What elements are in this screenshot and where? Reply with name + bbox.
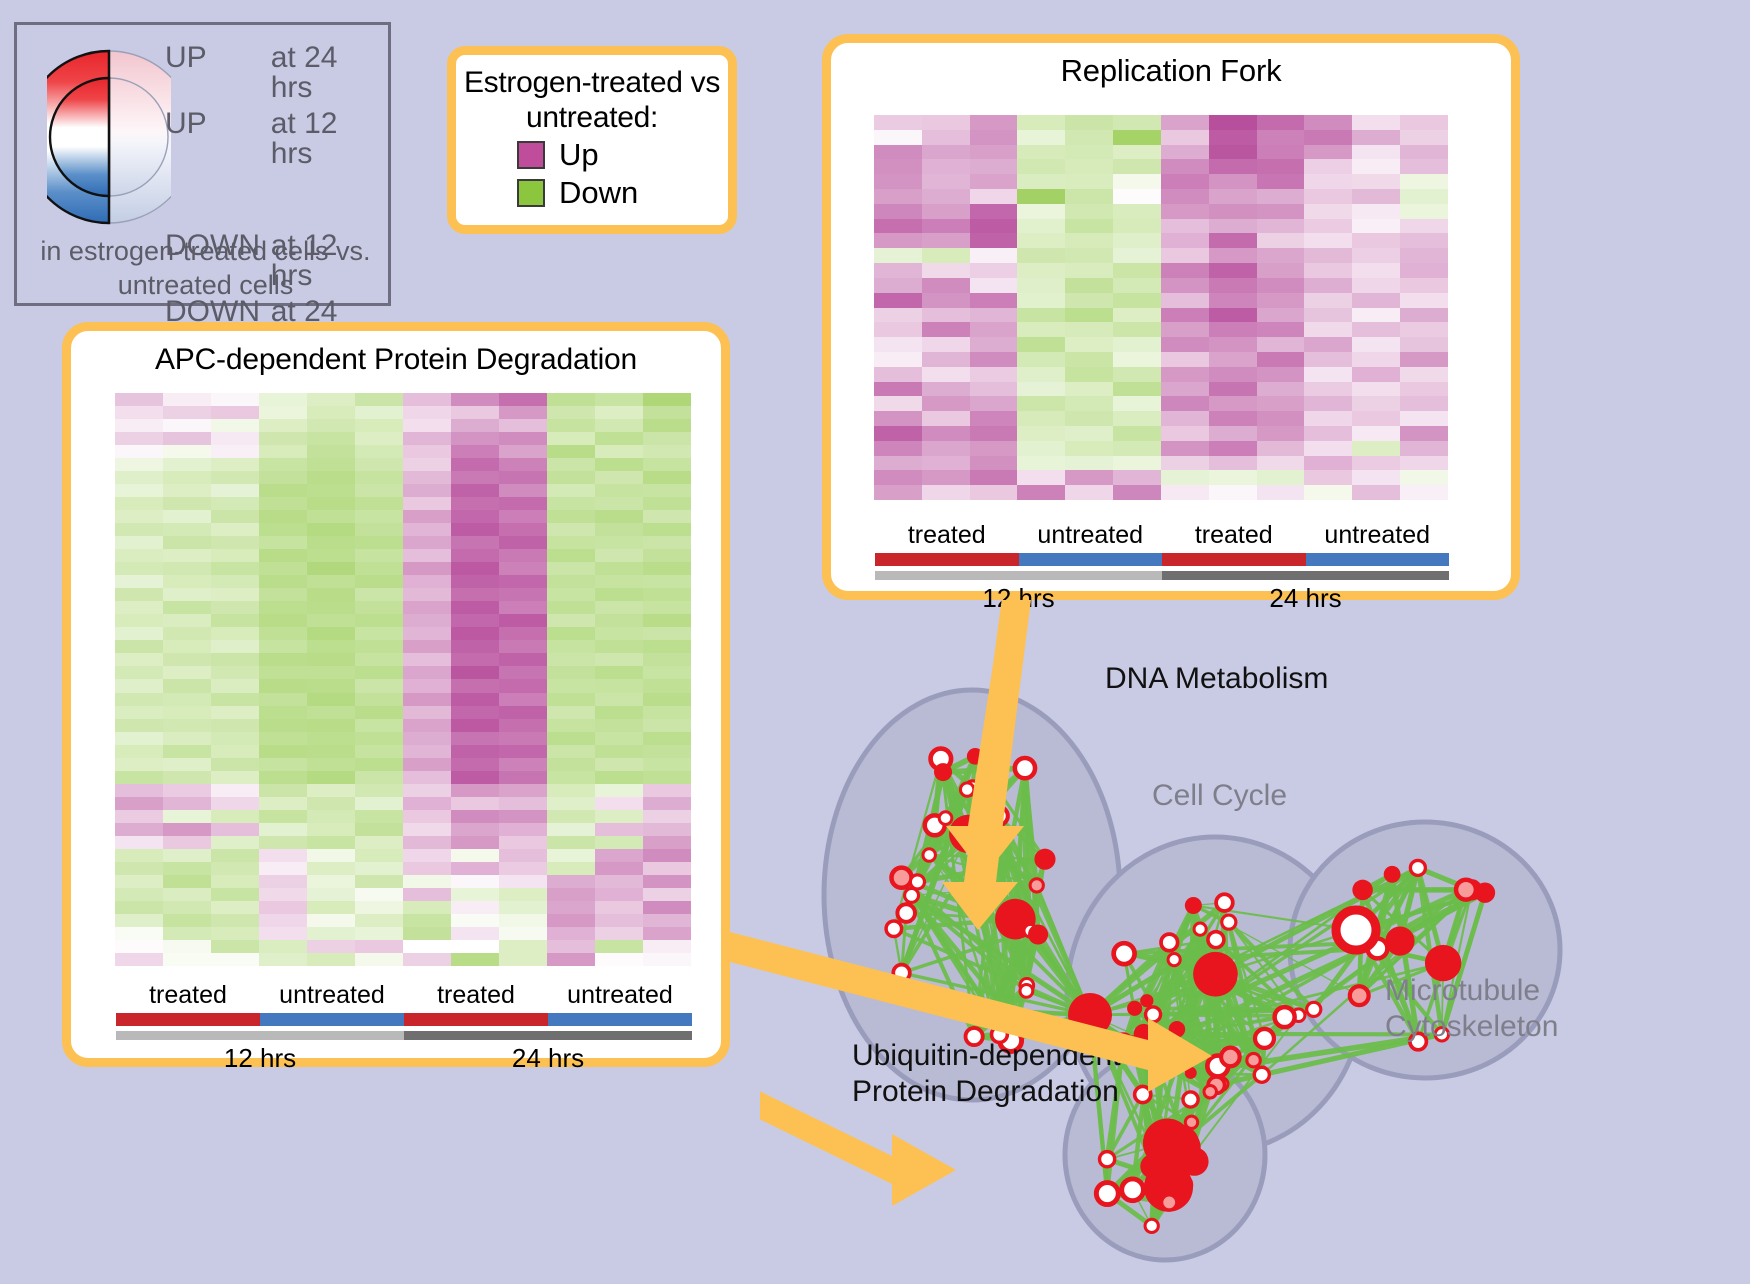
heatmap-cell [1352, 426, 1400, 441]
heatmap-cell [1017, 456, 1065, 471]
heatmap-cell [307, 627, 355, 640]
heatmap-cell [1209, 248, 1257, 263]
heatmap-cell [1352, 322, 1400, 337]
updown-legend-card: Estrogen-treated vs untreated: Up Down [447, 46, 737, 234]
heatmap-cell [499, 471, 547, 484]
heatmap-cell [1304, 456, 1352, 471]
heatmap-cell [211, 679, 259, 692]
heatmap-cell [922, 293, 970, 308]
heatmap-cell [970, 308, 1018, 323]
network-node[interactable] [886, 921, 902, 937]
heatmap-cell [355, 497, 403, 510]
heatmap-cell [1209, 293, 1257, 308]
heatmap-cell [451, 706, 499, 719]
heatmap-cell [1113, 293, 1161, 308]
heatmap-cell [1113, 396, 1161, 411]
heatmap-cell [403, 523, 451, 536]
heatmap-cell [259, 393, 307, 406]
network-node[interactable] [891, 868, 911, 888]
heatmap-cell [259, 914, 307, 927]
heatmap-cell [355, 549, 403, 562]
heatmap-cell [163, 445, 211, 458]
heatmap-cell [1065, 308, 1113, 323]
axis-label-treated-24-apc: treated [404, 981, 548, 1010]
heatmap-cell [970, 485, 1018, 500]
network-node[interactable] [939, 812, 952, 825]
heatmap-cell [922, 248, 970, 263]
heatmap-cell [595, 562, 643, 575]
heatmap-cell [259, 510, 307, 523]
network-node[interactable] [1183, 1092, 1198, 1107]
heatmap-cell [355, 927, 403, 940]
network-node[interactable] [1162, 1195, 1177, 1210]
network-node[interactable] [1168, 954, 1180, 966]
network-node[interactable] [1028, 924, 1048, 944]
heatmap-cell [1017, 441, 1065, 456]
heatmap-cell [922, 174, 970, 189]
heatmap-cell [1065, 293, 1113, 308]
heatmap-cell [259, 706, 307, 719]
heatmap-cell [922, 308, 970, 323]
heatmap-cell [307, 836, 355, 849]
heatmap-cell [1257, 145, 1305, 160]
heatmap-cell [451, 471, 499, 484]
heatmap-cell [547, 706, 595, 719]
heatmap-cell [1352, 441, 1400, 456]
heatmap-cell [403, 471, 451, 484]
heatmap-cell [259, 862, 307, 875]
heatmap-cell [1161, 426, 1209, 441]
bar-untreated-24 [1306, 553, 1450, 566]
heatmap-cell [1065, 367, 1113, 382]
network-node[interactable] [1185, 1116, 1197, 1128]
heatmap-cell [595, 601, 643, 614]
heatmap-cell [1065, 322, 1113, 337]
heatmap-cell [547, 732, 595, 745]
heatmap-cell [499, 523, 547, 536]
heatmap-cell [970, 396, 1018, 411]
heatmap-cell [499, 497, 547, 510]
network-node[interactable] [1114, 943, 1135, 964]
heatmap-cell [115, 849, 163, 862]
heatmap-cell [874, 159, 922, 174]
heatmap-cell [595, 797, 643, 810]
heatmap-cell [355, 419, 403, 432]
heatmap-cell [970, 174, 1018, 189]
heatmap-cell [259, 471, 307, 484]
heatmap-cell [643, 601, 691, 614]
heatmap-cell [499, 706, 547, 719]
heatmap-cell [211, 510, 259, 523]
heatmap-cell [499, 536, 547, 549]
heatmap-cell [115, 432, 163, 445]
heatmap-cell [1161, 263, 1209, 278]
network-node[interactable] [1001, 1005, 1014, 1018]
heatmap-cell [163, 745, 211, 758]
heatmap-cell [970, 233, 1018, 248]
heatmap-cell [1400, 248, 1448, 263]
heatmap-cell [307, 797, 355, 810]
heatmap-cell [499, 810, 547, 823]
heatmap-cell [1257, 441, 1305, 456]
network-node[interactable] [905, 888, 919, 902]
network-node[interactable] [1030, 879, 1043, 892]
network-node[interactable] [910, 875, 924, 889]
network-node[interactable] [1034, 849, 1055, 870]
heatmap-cell [115, 940, 163, 953]
heatmap-cell [307, 719, 355, 732]
heatmap-cell [355, 745, 403, 758]
heatmap-cell [499, 953, 547, 966]
axis-time-bar-apc [116, 1031, 692, 1040]
heatmap-cell [355, 458, 403, 471]
panel-title-apc: APC-dependent Protein Degradation [71, 331, 721, 377]
network-node[interactable] [893, 965, 910, 982]
heatmap-cell [451, 732, 499, 745]
heatmap-cell [259, 666, 307, 679]
bar-time-12 [875, 571, 1162, 580]
heatmap-cell [547, 719, 595, 732]
heatmap-cell [259, 719, 307, 732]
heatmap-cell [1065, 115, 1113, 130]
network-node[interactable] [1350, 986, 1369, 1005]
heatmap-cell [547, 471, 595, 484]
heatmap-cell [115, 953, 163, 966]
heatmap-cell [259, 693, 307, 706]
heatmap-cell [355, 510, 403, 523]
heatmap-cell [643, 536, 691, 549]
heatmap-cell [1113, 411, 1161, 426]
heatmap-cell [115, 627, 163, 640]
heatmap-cell [163, 901, 211, 914]
network-node[interactable] [1185, 897, 1202, 914]
panel-apc-degradation: APC-dependent Protein Degradation treate… [62, 322, 730, 1067]
heatmap-cell [595, 810, 643, 823]
heatmap-cell [403, 575, 451, 588]
heatmap-cell [547, 575, 595, 588]
heatmap-cell [115, 810, 163, 823]
heatmap-cell [595, 940, 643, 953]
heatmap-cell [163, 484, 211, 497]
heatmap-cell [1017, 174, 1065, 189]
heatmap-cell [163, 406, 211, 419]
heatmap-cell [211, 745, 259, 758]
network-node[interactable] [1216, 894, 1233, 911]
heatmap-cell [259, 549, 307, 562]
heatmap-cell [1065, 411, 1113, 426]
heatmap-cell [1209, 470, 1257, 485]
heatmap-cell [1017, 115, 1065, 130]
heatmap-cell [1065, 426, 1113, 441]
network-node[interactable] [1254, 1067, 1269, 1082]
heatmap-cell [643, 784, 691, 797]
heatmap-cell [1113, 189, 1161, 204]
heatmap-cell [1400, 396, 1448, 411]
heatmap-cell [499, 458, 547, 471]
heatmap-cell [307, 497, 355, 510]
heatmap-cell [1017, 159, 1065, 174]
network-node[interactable] [1122, 1179, 1144, 1201]
heatmap-cell [595, 510, 643, 523]
heatmap-cell [547, 601, 595, 614]
heatmap-cell [163, 432, 211, 445]
heatmap-cell [211, 706, 259, 719]
heatmap-cell [1400, 382, 1448, 397]
heatmap-cell [643, 706, 691, 719]
up-label: Up [559, 137, 667, 173]
heatmap-cell [1065, 337, 1113, 352]
heatmap-cell [547, 640, 595, 653]
network-node[interactable] [1222, 915, 1236, 929]
heatmap-cell [874, 219, 922, 234]
network-node[interactable] [1385, 926, 1414, 955]
heatmap-cell [307, 549, 355, 562]
heatmap-cell [1352, 174, 1400, 189]
updown-legend-title: Estrogen-treated vs untreated: [456, 55, 728, 135]
heatmap-cell [1352, 248, 1400, 263]
heatmap-cell [451, 745, 499, 758]
axis-time-bar-replication [875, 571, 1449, 580]
heatmap-cell [970, 456, 1018, 471]
heatmap-cell [499, 484, 547, 497]
network-node[interactable] [1384, 866, 1401, 883]
heatmap-cell [211, 888, 259, 901]
heatmap-cell [643, 445, 691, 458]
heatmap-cell [115, 458, 163, 471]
network-node[interactable] [1410, 860, 1425, 875]
heatmap-cell [1257, 322, 1305, 337]
heatmap-cell [1257, 159, 1305, 174]
heatmap-cell [970, 426, 1018, 441]
heatmap-cell [547, 536, 595, 549]
network-node[interactable] [1198, 969, 1224, 995]
heatmap-cell [547, 614, 595, 627]
heatmap-cell [211, 836, 259, 849]
heatmap-cell [1400, 337, 1448, 352]
heatmap-cell [115, 406, 163, 419]
heatmap-cell [1209, 174, 1257, 189]
heatmap-cell [922, 382, 970, 397]
heatmap-cell [1017, 308, 1065, 323]
heatmap-cell [307, 810, 355, 823]
heatmap-cell [1304, 219, 1352, 234]
heatmap-cell [163, 471, 211, 484]
heatmap-cell [307, 562, 355, 575]
heatmap-cell [115, 732, 163, 745]
heatmap-cell [499, 614, 547, 627]
network-node[interactable] [1255, 1029, 1274, 1048]
heatmap-cell [595, 719, 643, 732]
network-node[interactable] [1221, 1048, 1240, 1067]
heatmap-cell [259, 784, 307, 797]
heatmap-cell [451, 849, 499, 862]
heatmap-cell [355, 888, 403, 901]
heatmap-cell [451, 797, 499, 810]
heatmap-cell [211, 445, 259, 458]
heatmap-cell [1400, 263, 1448, 278]
network-node[interactable] [1208, 932, 1224, 948]
network-node[interactable] [960, 783, 973, 796]
heatmap-cell [115, 510, 163, 523]
network-node[interactable] [1145, 1219, 1158, 1232]
heatmap-cell [1400, 278, 1448, 293]
heatmap-cell [355, 614, 403, 627]
network-node[interactable] [1096, 1183, 1118, 1205]
heatmap-cell [1257, 278, 1305, 293]
heatmap-cell [499, 927, 547, 940]
heatmap-cell [355, 693, 403, 706]
network-node[interactable] [1015, 758, 1035, 778]
heatmap-cell [163, 693, 211, 706]
heatmap-cell [259, 940, 307, 953]
heatmap-cell [547, 588, 595, 601]
heatmap-cell [1304, 263, 1352, 278]
heatmap-cell [595, 771, 643, 784]
heatmap-cell [1065, 145, 1113, 160]
heatmap-cell [1161, 233, 1209, 248]
network-node[interactable] [1135, 1086, 1151, 1102]
heatmap-cell [1209, 115, 1257, 130]
heatmap-cell [403, 706, 451, 719]
heatmap-cell [115, 914, 163, 927]
heatmap-cell [451, 419, 499, 432]
heatmap-cell [643, 679, 691, 692]
network-node[interactable] [1204, 1086, 1216, 1098]
network-node[interactable] [1336, 910, 1376, 950]
heatmap-cell [643, 719, 691, 732]
heatmap-cell [115, 927, 163, 940]
heatmap-cell [1400, 367, 1448, 382]
heatmap-cell [403, 536, 451, 549]
heatmap-cell [355, 393, 403, 406]
heatmap-cell [1257, 130, 1305, 145]
heatmap-cell [595, 901, 643, 914]
heatmap-cell [643, 523, 691, 536]
heatmap-cell [403, 745, 451, 758]
heatmap-cell [595, 536, 643, 549]
network-node[interactable] [1100, 1152, 1115, 1167]
heatmap-cell [163, 497, 211, 510]
heatmap-cell [355, 706, 403, 719]
network-node[interactable] [1134, 1024, 1154, 1044]
heatmap-cell [451, 927, 499, 940]
heatmap-cell [403, 875, 451, 888]
heatmap-cell [499, 640, 547, 653]
heatmap-cell [547, 562, 595, 575]
heatmap-cell [499, 797, 547, 810]
heatmap-cell [874, 352, 922, 367]
heatmap-cell [307, 510, 355, 523]
heatmap-cell [163, 640, 211, 653]
heatmap-cell [115, 653, 163, 666]
heatmap-cell [451, 836, 499, 849]
heatmap-cell [1161, 322, 1209, 337]
network-node[interactable] [934, 763, 952, 781]
network-node[interactable] [1475, 883, 1495, 903]
heatmap-cell [1113, 441, 1161, 456]
network-node[interactable] [1127, 1001, 1142, 1016]
network-node[interactable] [1352, 880, 1372, 900]
heatmap-cell [970, 352, 1018, 367]
network-node[interactable] [1068, 993, 1112, 1037]
heatmap-cell [1400, 308, 1448, 323]
network-node[interactable] [1307, 1002, 1321, 1016]
heatmap-cell [643, 693, 691, 706]
heatmap-cell [1400, 130, 1448, 145]
heatmap-cell [1209, 352, 1257, 367]
heatmap-cell [1017, 426, 1065, 441]
heatmap-cell [1017, 263, 1065, 278]
key-when-up-24: at 24 hrs [271, 43, 385, 103]
heatmap-cell [307, 862, 355, 875]
heatmap-cell [259, 614, 307, 627]
heatmap-cell [211, 627, 259, 640]
heatmap-cell [403, 810, 451, 823]
heatmap-cell [595, 758, 643, 771]
heatmap-cell [163, 810, 211, 823]
heatmap-cell [1209, 204, 1257, 219]
heatmap-cell [307, 406, 355, 419]
network-node[interactable] [923, 849, 935, 861]
heatmap-cell [355, 588, 403, 601]
heatmap-cell [451, 432, 499, 445]
bar-treated-12-apc [116, 1013, 260, 1026]
network-node[interactable] [1169, 1021, 1186, 1038]
network-node[interactable] [1456, 880, 1476, 900]
heatmap-cell [403, 901, 451, 914]
heatmap-cell [163, 562, 211, 575]
network-node[interactable] [1146, 1007, 1161, 1022]
heatmap-cell [163, 940, 211, 953]
heatmap-cell [1257, 308, 1305, 323]
axis-label-untreated-24-apc: untreated [548, 981, 692, 1010]
heatmap-cell [307, 732, 355, 745]
heatmap-cell [163, 706, 211, 719]
heatmap-cell [115, 601, 163, 614]
heatmap-cell [643, 588, 691, 601]
heatmap-cell [259, 875, 307, 888]
heatmap-cell [595, 575, 643, 588]
heatmap-cell [163, 862, 211, 875]
network-node[interactable] [897, 904, 915, 922]
heatmap-cell [1113, 352, 1161, 367]
heatmap-cell [403, 693, 451, 706]
heatmap-cell [1113, 367, 1161, 382]
heatmap-cell [547, 745, 595, 758]
heatmap-cell [451, 549, 499, 562]
network-node[interactable] [1275, 1007, 1295, 1027]
network-node[interactable] [1247, 1053, 1261, 1067]
bar-treated-24 [1162, 553, 1306, 566]
heatmap-cell [307, 771, 355, 784]
heatmap-cell [403, 588, 451, 601]
heatmap-cell [115, 562, 163, 575]
network-node[interactable] [1178, 1045, 1190, 1057]
heatmap-cell [643, 745, 691, 758]
heatmap-cell [163, 536, 211, 549]
heatmap-cell [1400, 485, 1448, 500]
heatmap-cell [115, 523, 163, 536]
network-node[interactable] [1194, 923, 1206, 935]
heatmap-cell [922, 396, 970, 411]
heatmap-cell [1352, 396, 1400, 411]
heatmap-cell [1017, 411, 1065, 426]
network-node[interactable] [1020, 984, 1033, 997]
network-node[interactable] [1161, 934, 1178, 951]
network-node[interactable] [1185, 1067, 1197, 1079]
heatmap-cell [1304, 322, 1352, 337]
heatmap-cell [1304, 396, 1352, 411]
